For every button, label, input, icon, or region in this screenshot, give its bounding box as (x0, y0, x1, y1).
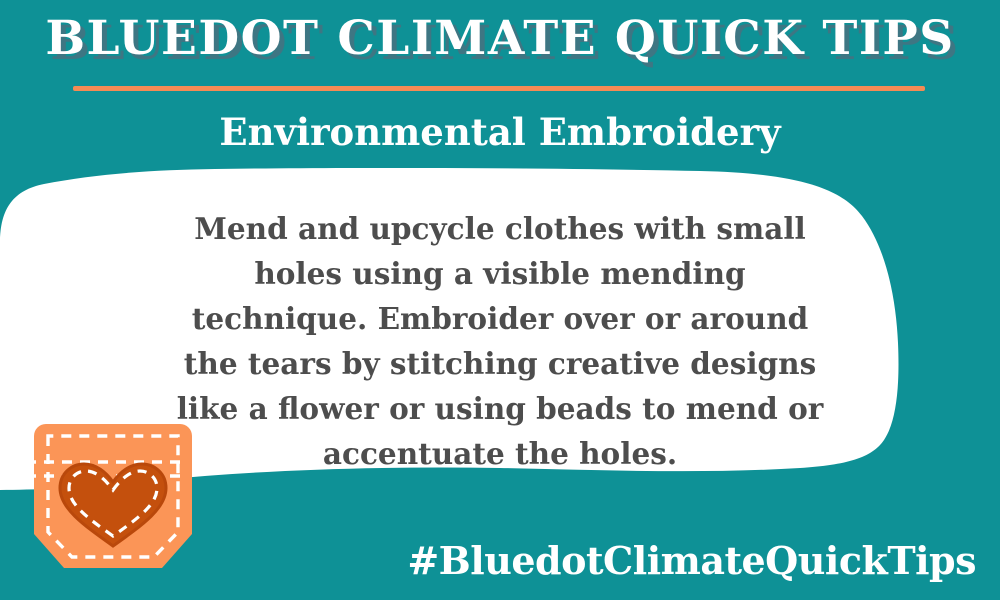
pocket-illustration (22, 418, 204, 590)
poster-canvas: BLUEDOT CLIMATE QUICK TIPS Environmental… (0, 0, 1000, 600)
denim-pocket-icon (22, 418, 204, 590)
hashtag-label: #BluedotClimateQuickTips (407, 536, 976, 586)
subtitle: Environmental Embroidery (0, 104, 1000, 160)
tip-body-text: Mend and upcycle clothes with small hole… (170, 206, 830, 476)
title-divider (73, 86, 925, 91)
page-title: BLUEDOT CLIMATE QUICK TIPS (0, 8, 1000, 70)
